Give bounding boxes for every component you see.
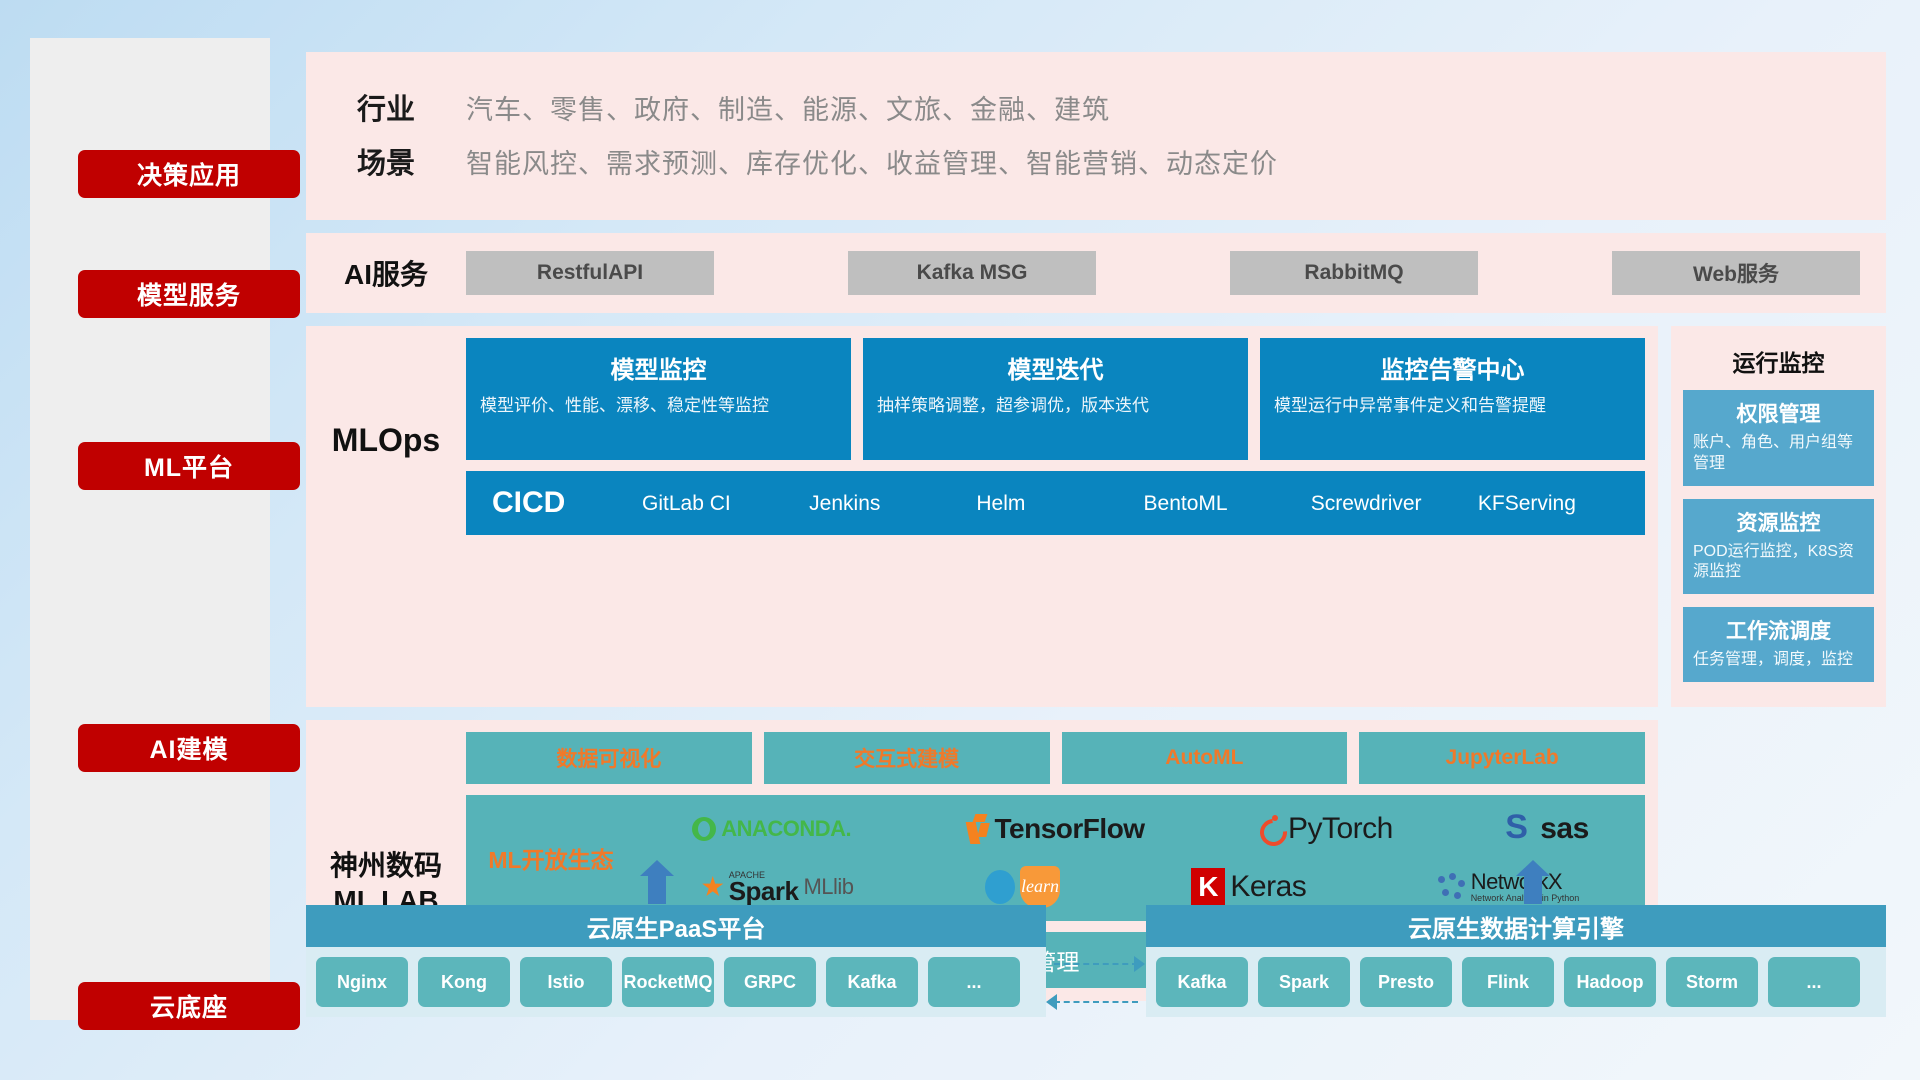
rail-item-model-service[interactable]: 模型服务 — [78, 270, 300, 318]
scikit-blue-icon — [985, 870, 1015, 904]
arrow-right-icon — [1134, 956, 1145, 972]
paas-chip-nginx[interactable]: Nginx — [316, 957, 408, 1007]
engine-chip-kafka[interactable]: Kafka — [1156, 957, 1248, 1007]
mlops-content: 模型监控 模型评价、性能、漂移、稳定性等监控 模型迭代 抽样策略调整，超参调优，… — [466, 338, 1645, 535]
run-monitor-band: 运行监控 权限管理 账户、角色、用户组等管理 资源监控 POD运行监控，K8S资… — [1671, 326, 1886, 707]
paas-chip-list: Nginx Kong Istio RocketMQ GRPC Kafka ... — [306, 947, 1046, 1017]
decision-app-band: 行业 汽车、零售、政府、制造、能源、文旅、金融、建筑 场景 智能风控、需求预测、… — [306, 52, 1886, 220]
ml-platform-row: MLOps 模型监控 模型评价、性能、漂移、稳定性等监控 模型迭代 抽样策略调整… — [306, 326, 1886, 707]
mlops-band: MLOps 模型监控 模型评价、性能、漂移、稳定性等监控 模型迭代 抽样策略调整… — [306, 326, 1658, 707]
paas-title: 云原生PaaS平台 — [306, 905, 1046, 947]
architecture-diagram: 决策应用 模型服务 ML平台 AI建模 云底座 行业 汽车、零售、政府、制造、能… — [0, 0, 1920, 1080]
model-service-band: AI服务 RestfulAPI Kafka MSG RabbitMQ Web服务 — [306, 233, 1886, 313]
cicd-item-list: GitLab CI Jenkins Helm BentoML Screwdriv… — [642, 493, 1645, 514]
scikit-orange-icon: learn — [1020, 866, 1060, 908]
spark-star-icon — [702, 876, 724, 898]
tool-jupyterlab[interactable]: JupyterLab — [1359, 732, 1645, 784]
pytorch-label: PyTorch — [1288, 812, 1393, 846]
keras-logo[interactable]: K Keras — [1191, 868, 1306, 906]
spark-mllib-logo[interactable]: APACHE Spark MLlib — [702, 870, 854, 903]
keras-icon: K — [1191, 868, 1225, 906]
cicd-bar: CICD GitLab CI Jenkins Helm BentoML Scre… — [466, 471, 1645, 535]
mlops-card-list: 模型监控 模型评价、性能、漂移、稳定性等监控 模型迭代 抽样策略调整，超参调优，… — [466, 338, 1645, 460]
keras-label: Keras — [1230, 870, 1306, 904]
cicd-item-screwdriver[interactable]: Screwdriver — [1311, 493, 1478, 514]
cloud-base-wrap: 云原生PaaS平台 Nginx Kong Istio RocketMQ GRPC… — [306, 905, 1886, 1017]
spark-label: Spark — [729, 880, 799, 903]
industry-key: 行业 — [306, 86, 466, 128]
sas-logo[interactable]: S sas — [1505, 812, 1589, 846]
mlops-card-model-monitoring[interactable]: 模型监控 模型评价、性能、漂移、稳定性等监控 — [466, 338, 851, 460]
chip-label: RestfulAPI — [537, 261, 643, 285]
engine-chip-storm[interactable]: Storm — [1666, 957, 1758, 1007]
scikit-learn-logo[interactable]: learn — [985, 866, 1060, 908]
rail-label: AI建模 — [149, 730, 228, 766]
sas-label: sas — [1540, 812, 1589, 846]
paas-chip-rocketmq[interactable]: RocketMQ — [622, 957, 714, 1007]
paas-chip-kong[interactable]: Kong — [418, 957, 510, 1007]
rail-label: 模型服务 — [137, 276, 241, 312]
networkx-icon — [1438, 873, 1466, 901]
card-desc: 账户、角色、用户组等管理 — [1693, 433, 1864, 475]
keras-mark-letter: K — [1198, 871, 1218, 903]
ml-lab-label-line1: 神州数码 — [306, 848, 466, 883]
rail-item-cloud-base[interactable]: 云底座 — [78, 982, 300, 1030]
mlops-card-alert-center[interactable]: 监控告警中心 模型运行中异常事件定义和告警提醒 — [1260, 338, 1645, 460]
arrow-line-right — [1054, 963, 1138, 965]
paas-chip-istio[interactable]: Istio — [520, 957, 612, 1007]
tool-automl[interactable]: AutoML — [1062, 732, 1348, 784]
cicd-item-kfserving[interactable]: KFServing — [1478, 493, 1645, 514]
run-monitor-title: 运行监控 — [1683, 344, 1874, 378]
engine-chip-hadoop[interactable]: Hadoop — [1564, 957, 1656, 1007]
cicd-item-jenkins[interactable]: Jenkins — [809, 493, 976, 514]
card-title: 工作流调度 — [1693, 615, 1864, 645]
ai-service-label: AI服务 — [306, 253, 466, 293]
rail-item-ml-platform[interactable]: ML平台 — [78, 442, 300, 490]
tool-interactive-modeling[interactable]: 交互式建模 — [764, 732, 1050, 784]
mllib-label: MLlib — [803, 874, 853, 900]
paas-chip-more[interactable]: ... — [928, 957, 1020, 1007]
cicd-item-gitlab-ci[interactable]: GitLab CI — [642, 493, 809, 514]
ml-ecosystem-label: ML开放生态 — [466, 801, 636, 915]
scenario-value: 智能风控、需求预测、库存优化、收益管理、智能营销、动态定价 — [466, 142, 1278, 181]
bidirectional-arrows — [1046, 905, 1146, 1015]
card-desc: 任务管理，调度，监控 — [1693, 650, 1864, 671]
cicd-item-helm[interactable]: Helm — [976, 493, 1143, 514]
arrow-shaft — [648, 874, 666, 904]
networkx-logo[interactable]: NetworkX Network Analysis in Python — [1438, 871, 1580, 903]
card-title: 监控告警中心 — [1274, 350, 1631, 385]
industry-value: 汽车、零售、政府、制造、能源、文旅、金融、建筑 — [466, 88, 1110, 127]
chip-label: Kafka MSG — [917, 261, 1028, 285]
layer-rail: 决策应用 模型服务 ML平台 AI建模 云底座 — [30, 38, 270, 1020]
engine-chip-flink[interactable]: Flink — [1462, 957, 1554, 1007]
cicd-item-bentoml[interactable]: BentoML — [1144, 493, 1311, 514]
scenario-key: 场景 — [306, 140, 466, 182]
ml-lab-tool-list: 数据可视化 交互式建模 AutoML JupyterLab — [466, 732, 1645, 784]
card-title: 权限管理 — [1693, 398, 1864, 428]
ml-ecosystem-logos: ANACONDA. TensorFlow PyTorch — [636, 801, 1645, 915]
ml-lab-label: 神州数码 ML LAB — [306, 732, 466, 918]
card-desc: 抽样策略调整，超参调优，版本迭代 — [877, 395, 1234, 418]
ai-chip-rabbitmq[interactable]: RabbitMQ — [1230, 251, 1478, 295]
card-desc: 模型评价、性能、漂移、稳定性等监控 — [480, 395, 837, 418]
card-desc: POD运行监控，K8S资源监控 — [1693, 542, 1864, 584]
tensorflow-label: TensorFlow — [995, 813, 1145, 845]
scenario-row: 场景 智能风控、需求预测、库存优化、收益管理、智能营销、动态定价 — [306, 140, 1886, 182]
arrow-shaft — [1524, 874, 1542, 904]
layers-container: 行业 汽车、零售、政府、制造、能源、文旅、金融、建筑 场景 智能风控、需求预测、… — [306, 52, 1886, 1001]
engine-chip-list: Kafka Spark Presto Flink Hadoop Storm ..… — [1146, 947, 1886, 1017]
rail-label: 决策应用 — [137, 156, 241, 192]
rail-item-decision-app[interactable]: 决策应用 — [78, 150, 300, 198]
ml-ecosystem-box: ML开放生态 ANACONDA. TensorFlow — [466, 795, 1645, 921]
engine-chip-presto[interactable]: Presto — [1360, 957, 1452, 1007]
rail-label: 云底座 — [150, 988, 228, 1024]
cicd-title: CICD — [492, 486, 642, 520]
engine-chip-more[interactable]: ... — [1768, 957, 1860, 1007]
anaconda-label: ANACONDA. — [721, 816, 851, 842]
industry-row: 行业 汽车、零售、政府、制造、能源、文旅、金融、建筑 — [306, 86, 1886, 128]
chip-label: RabbitMQ — [1304, 261, 1403, 285]
tool-data-visualization[interactable]: 数据可视化 — [466, 732, 752, 784]
mlops-card-model-iteration[interactable]: 模型迭代 抽样策略调整，超参调优，版本迭代 — [863, 338, 1248, 460]
card-desc: 模型运行中异常事件定义和告警提醒 — [1274, 395, 1631, 418]
pytorch-logo[interactable]: PyTorch — [1257, 812, 1393, 846]
arrow-line-left — [1054, 1001, 1138, 1003]
run-monitor-card-resource[interactable]: 资源监控 POD运行监控，K8S资源监控 — [1683, 499, 1874, 595]
paas-chip-kafka[interactable]: Kafka — [826, 957, 918, 1007]
ai-chip-kafka-msg[interactable]: Kafka MSG — [848, 251, 1096, 295]
ai-chip-restfulapi[interactable]: RestfulAPI — [466, 251, 714, 295]
engine-panel: 云原生数据计算引擎 Kafka Spark Presto Flink Hadoo… — [1146, 905, 1886, 1017]
sas-icon: S — [1505, 814, 1535, 844]
run-monitor-card-workflow[interactable]: 工作流调度 任务管理，调度，监控 — [1683, 607, 1874, 682]
chip-label: Web服务 — [1693, 258, 1779, 288]
paas-chip-grpc[interactable]: GRPC — [724, 957, 816, 1007]
ai-service-chip-list: RestfulAPI Kafka MSG RabbitMQ Web服务 — [466, 251, 1886, 295]
logo-row-1: ANACONDA. TensorFlow PyTorch — [636, 801, 1645, 857]
paas-panel: 云原生PaaS平台 Nginx Kong Istio RocketMQ GRPC… — [306, 905, 1046, 1017]
card-title: 模型监控 — [480, 350, 837, 385]
anaconda-icon — [692, 817, 716, 841]
run-monitor-card-permission[interactable]: 权限管理 账户、角色、用户组等管理 — [1683, 390, 1874, 486]
card-title: 模型迭代 — [877, 350, 1234, 385]
anaconda-logo[interactable]: ANACONDA. — [692, 816, 851, 842]
engine-chip-spark[interactable]: Spark — [1258, 957, 1350, 1007]
tensorflow-logo[interactable]: TensorFlow — [964, 813, 1145, 845]
rail-item-ai-modeling[interactable]: AI建模 — [78, 724, 300, 772]
card-title: 资源监控 — [1693, 507, 1864, 537]
engine-title: 云原生数据计算引擎 — [1146, 905, 1886, 947]
scikit-learn-label: learn — [1021, 876, 1059, 897]
pytorch-icon — [1257, 815, 1283, 843]
arrow-left-icon — [1046, 994, 1057, 1010]
cloud-base-row: 云原生PaaS平台 Nginx Kong Istio RocketMQ GRPC… — [306, 905, 1886, 1017]
ai-chip-web-service[interactable]: Web服务 — [1612, 251, 1860, 295]
mlops-label: MLOps — [306, 338, 466, 459]
tensorflow-icon — [964, 814, 990, 844]
rail-label: ML平台 — [144, 448, 234, 484]
